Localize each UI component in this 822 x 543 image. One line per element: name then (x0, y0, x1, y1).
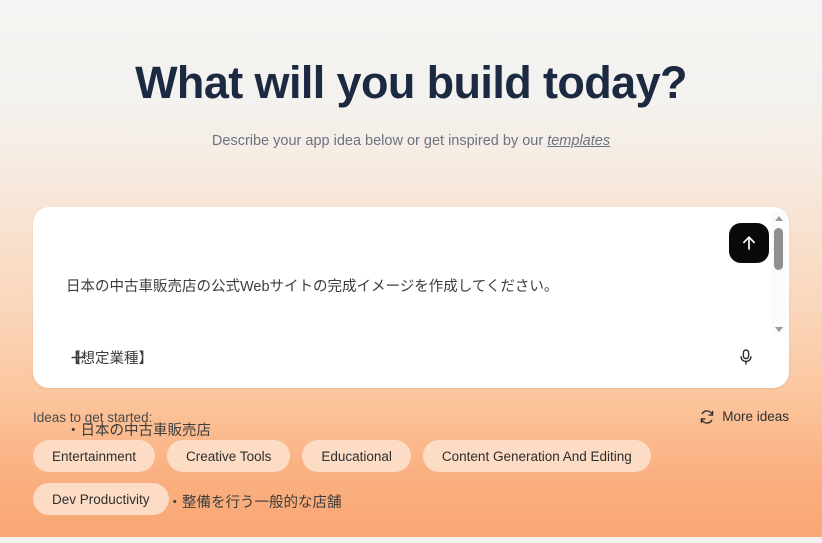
idea-chip-dev-productivity[interactable]: Dev Productivity (33, 483, 169, 515)
more-ideas-label: More ideas (722, 407, 789, 427)
idea-chip-creative-tools[interactable]: Creative Tools (167, 440, 290, 472)
microphone-button[interactable] (733, 346, 759, 372)
subtitle-text: Describe your app idea below or get insp… (212, 133, 547, 149)
ideas-header: Ideas to get started: More ideas (33, 408, 789, 428)
send-button[interactable] (729, 223, 769, 263)
caret-down-icon[interactable] (771, 323, 786, 335)
prompt-scrollbar[interactable] (771, 212, 786, 335)
add-attachment-button[interactable] (65, 347, 91, 373)
caret-up-icon[interactable] (771, 212, 786, 224)
page-title: What will you build today? (0, 56, 822, 110)
idea-chip-entertainment[interactable]: Entertainment (33, 440, 155, 472)
plus-icon (70, 349, 87, 371)
more-ideas-button[interactable]: More ideas (699, 407, 789, 427)
idea-chip-list: Entertainment Creative Tools Educational… (33, 440, 789, 515)
refresh-icon (699, 409, 715, 425)
microphone-icon (737, 348, 755, 371)
arrow-up-icon (739, 233, 759, 253)
idea-chip-educational[interactable]: Educational (302, 440, 411, 472)
app-root: What will you build today? Describe your… (0, 0, 822, 543)
composer-toolbar (33, 343, 789, 388)
scrollbar-thumb[interactable] (774, 228, 783, 270)
page-bottom-edge (0, 537, 822, 543)
idea-chip-content-generation-and-editing[interactable]: Content Generation And Editing (423, 440, 651, 472)
page-header: What will you build today? Describe your… (0, 0, 822, 151)
page-subtitle: Describe your app idea below or get insp… (0, 131, 822, 151)
ideas-label: Ideas to get started: (33, 408, 152, 428)
prompt-textarea[interactable] (33, 207, 789, 343)
templates-link[interactable]: templates (547, 133, 610, 149)
